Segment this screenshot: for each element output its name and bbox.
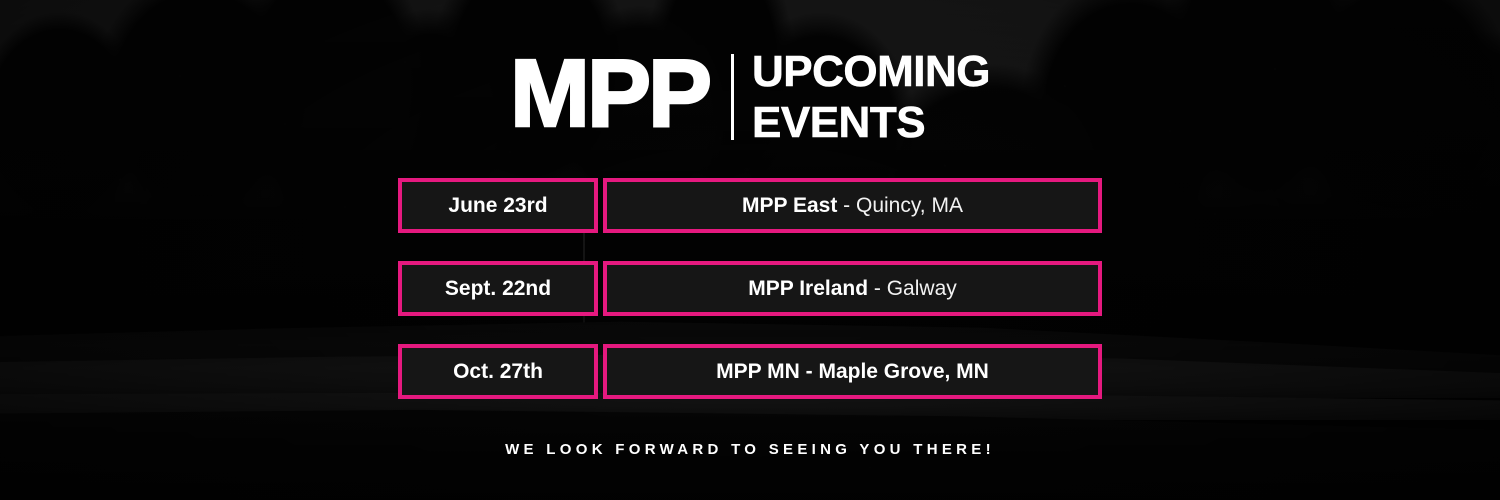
event-title-strong: MPP East [742, 194, 837, 217]
header-title-block: UPCOMING EVENTS [752, 48, 990, 145]
event-title-label: MPP East - Quincy, MA [742, 194, 963, 218]
header-divider-rule [731, 54, 734, 140]
banner-footer: WE LOOK FORWARD TO SEEING YOU THERE! [0, 441, 1500, 459]
header-title-line-1: UPCOMING [752, 50, 990, 94]
event-title-cell: MPP East - Quincy, MA [603, 178, 1102, 233]
event-title-cell: MPP Ireland - Galway [603, 261, 1102, 316]
event-row[interactable]: June 23rd MPP East - Quincy, MA [398, 178, 1102, 233]
event-date-cell: Oct. 27th [398, 344, 598, 399]
footer-tagline: WE LOOK FORWARD TO SEEING YOU THERE! [505, 441, 995, 458]
event-title-rest: - Galway [868, 277, 957, 300]
event-title-cell: MPP MN - Maple Grove, MN [603, 344, 1102, 399]
event-date-label: June 23rd [448, 194, 547, 218]
banner-header: MPP UPCOMING EVENTS [0, 48, 1500, 145]
event-row[interactable]: Sept. 22nd MPP Ireland - Galway [398, 261, 1102, 316]
event-date-cell: June 23rd [398, 178, 598, 233]
upcoming-events-banner: MPP UPCOMING EVENTS June 23rd MPP East -… [0, 0, 1500, 500]
event-row[interactable]: Oct. 27th MPP MN - Maple Grove, MN [398, 344, 1102, 399]
event-date-label: Sept. 22nd [445, 277, 551, 301]
event-title-strong: MPP MN - Maple Grove, MN [716, 360, 989, 383]
event-date-label: Oct. 27th [453, 360, 543, 384]
mpp-logo: MPP [510, 48, 709, 140]
event-title-label: MPP Ireland - Galway [748, 277, 957, 301]
event-title-strong: MPP Ireland [748, 277, 868, 300]
event-date-cell: Sept. 22nd [398, 261, 598, 316]
events-list: June 23rd MPP East - Quincy, MA Sept. 22… [398, 178, 1102, 399]
event-title-label: MPP MN - Maple Grove, MN [716, 360, 989, 384]
event-title-rest: - Quincy, MA [837, 194, 963, 217]
header-title-line-2: EVENTS [752, 101, 990, 145]
